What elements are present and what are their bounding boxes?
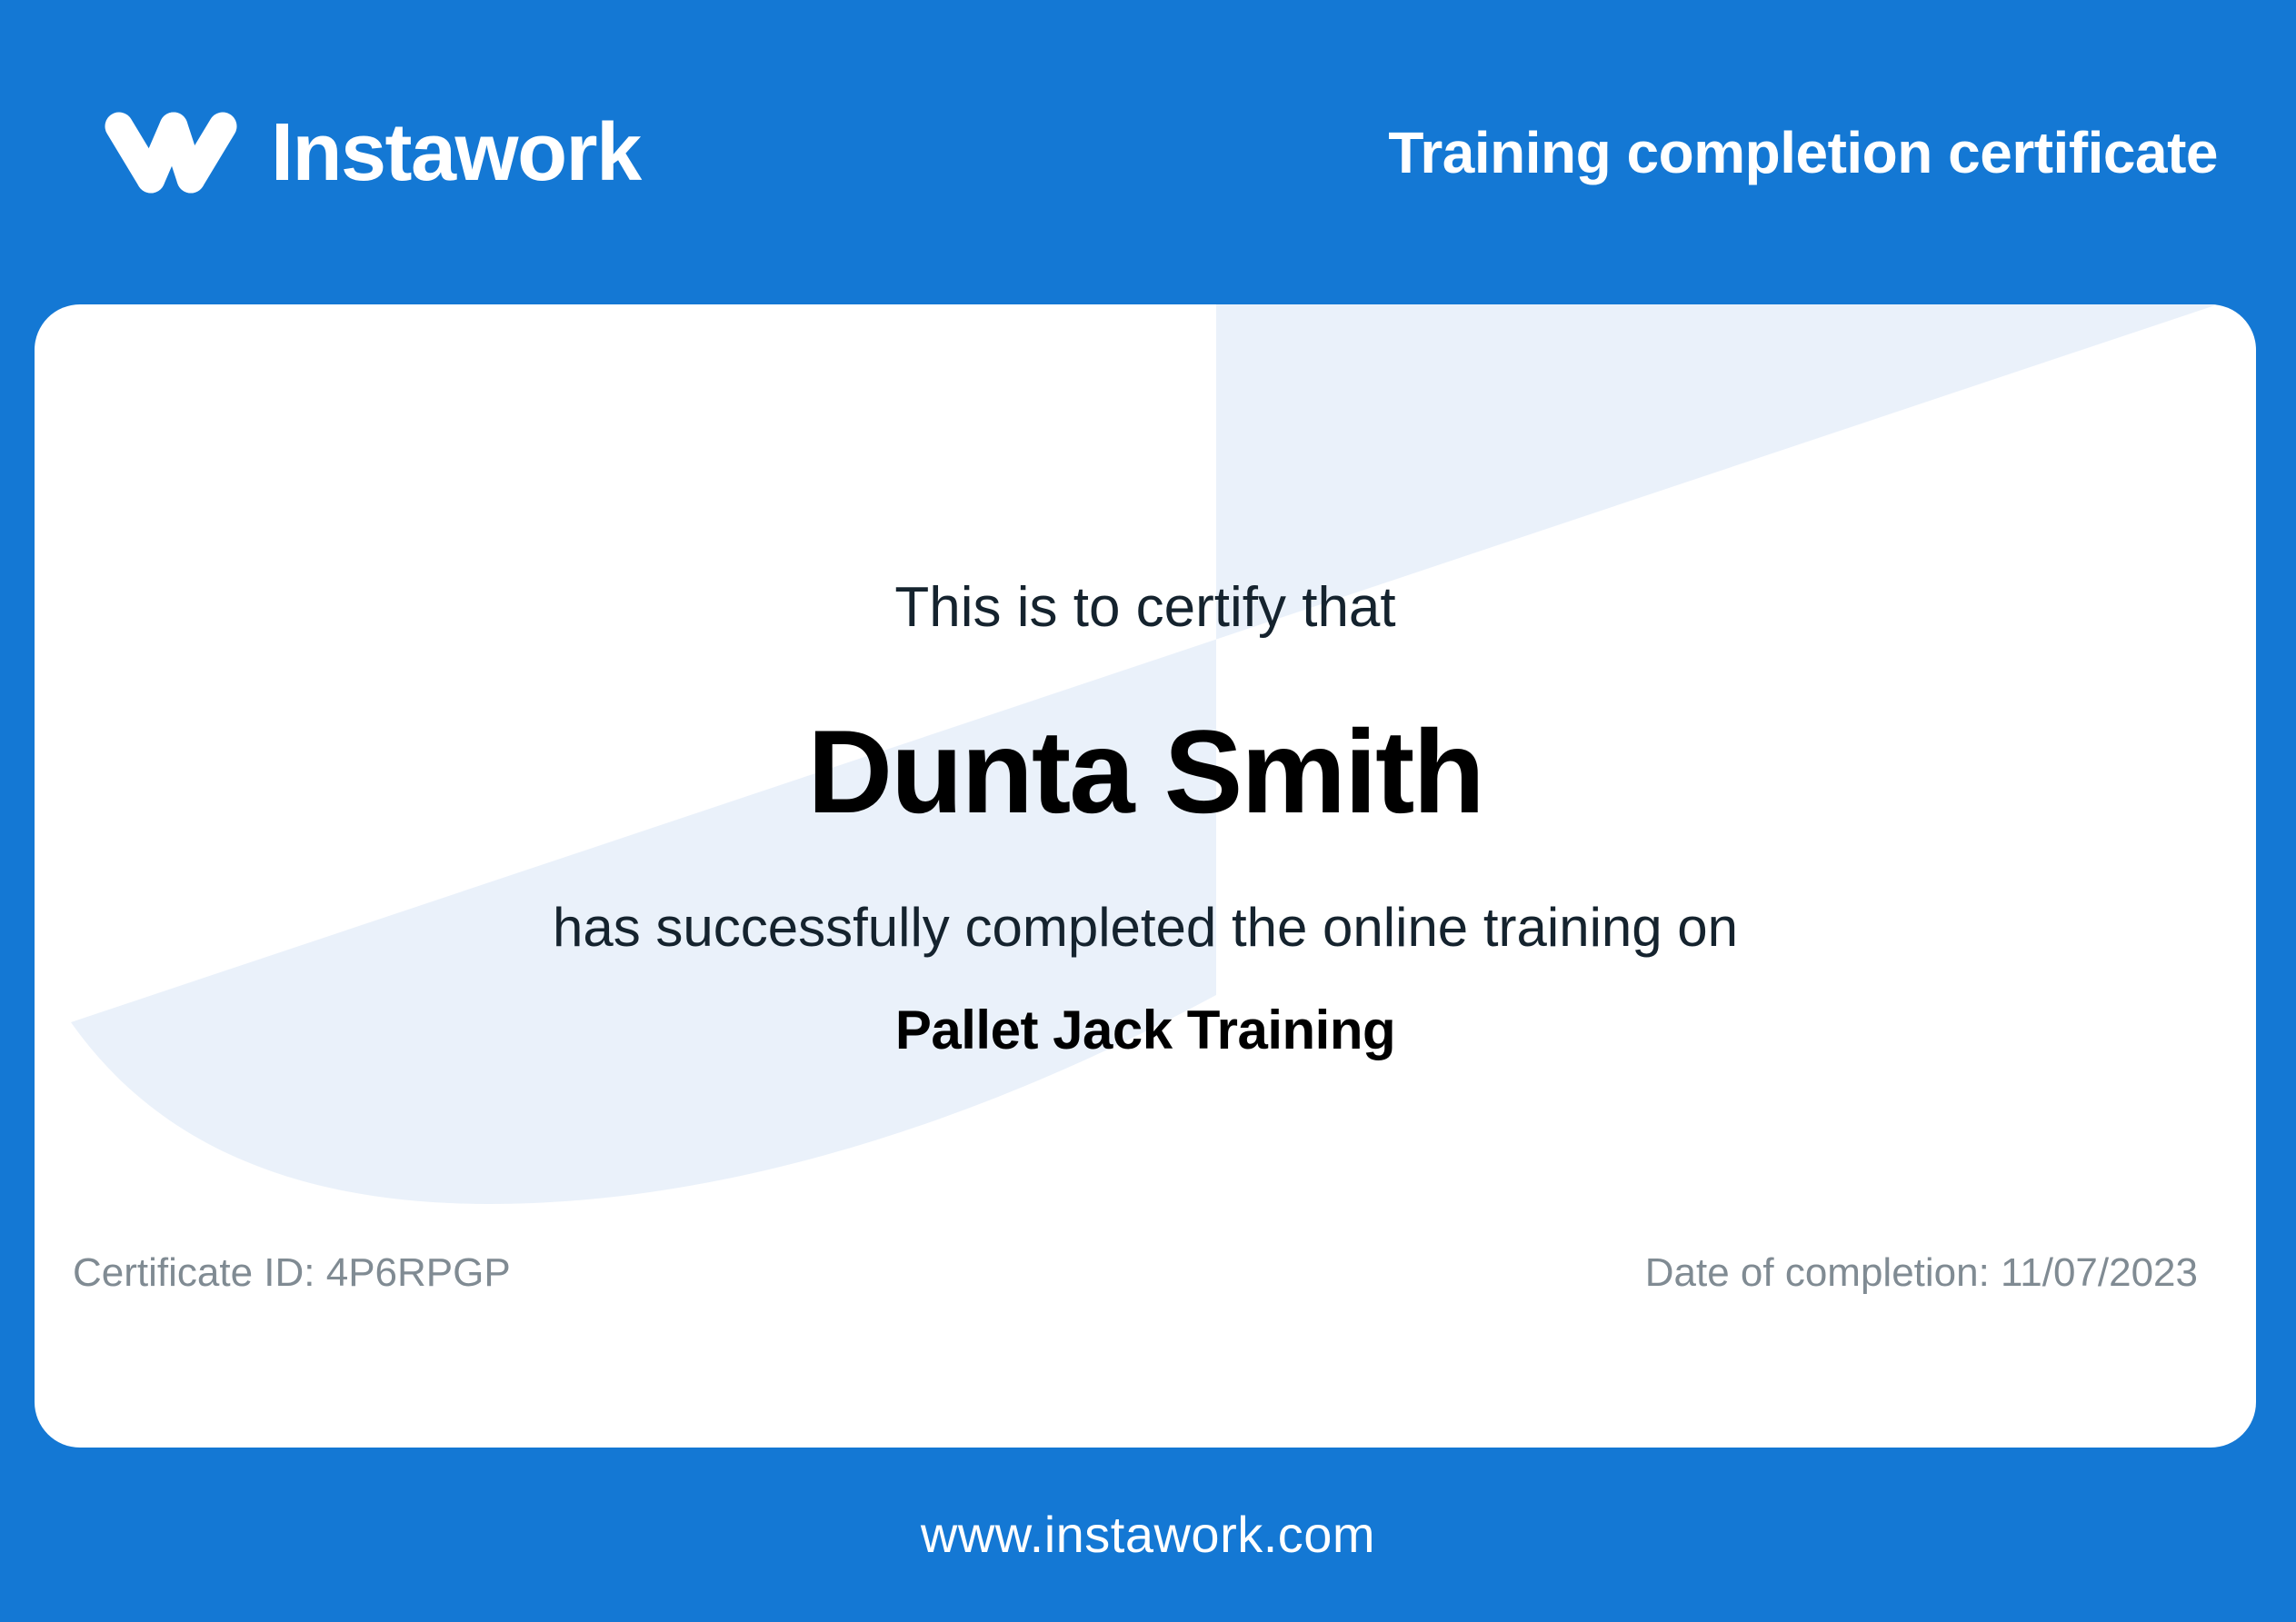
brand-lockup: Instawork: [102, 109, 641, 196]
certificate-card: This is to certify that Dunta Smith has …: [35, 304, 2256, 1448]
certificate-body: This is to certify that Dunta Smith has …: [35, 304, 2256, 1448]
page-footer: www.instawork.com: [0, 1448, 2296, 1622]
certificate-meta-row: Certificate ID: 4P6RPGP Date of completi…: [35, 1251, 2256, 1295]
completion-date: Date of completion: 11/07/2023: [1645, 1251, 2198, 1295]
recipient-name: Dunta Smith: [35, 704, 2256, 841]
certificate-id: Certificate ID: 4P6RPGP: [73, 1251, 511, 1295]
certificate-page: Instawork Training completion certificat…: [0, 0, 2296, 1622]
page-title: Training completion certificate: [1388, 124, 2238, 182]
completion-statement: has successfully completed the online tr…: [35, 898, 2256, 958]
brand-name: Instawork: [271, 112, 641, 194]
website-url[interactable]: www.instawork.com: [921, 1509, 1375, 1560]
instawork-w-logo-icon: [102, 109, 240, 196]
page-header: Instawork Training completion certificat…: [0, 0, 2296, 304]
course-name: Pallet Jack Training: [35, 1000, 2256, 1060]
certify-statement: This is to certify that: [35, 577, 2256, 639]
